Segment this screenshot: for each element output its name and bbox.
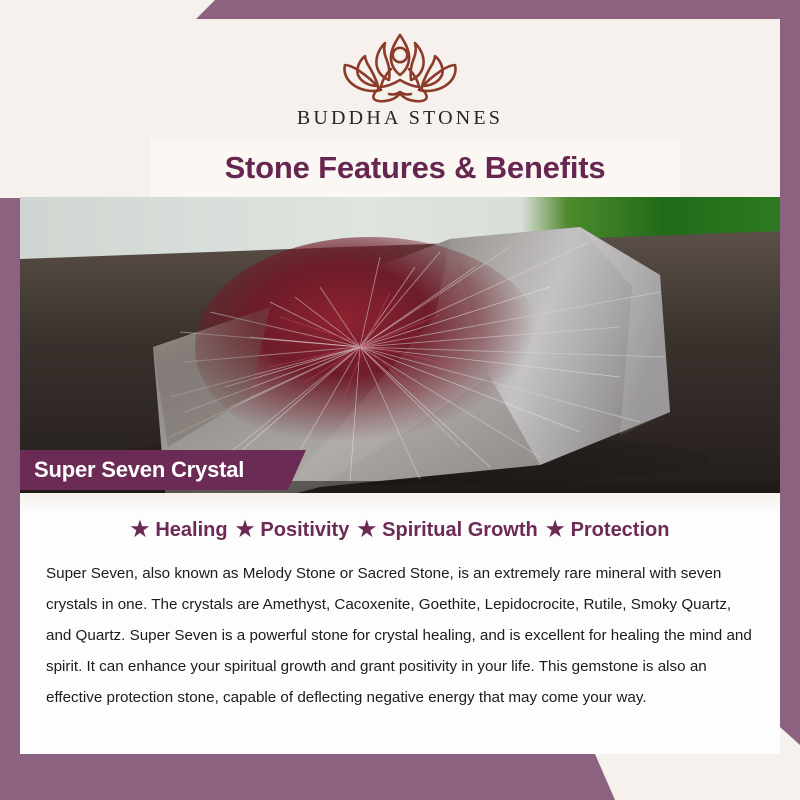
stone-photo (20, 197, 780, 493)
content-panel: ★ Healing ★ Positivity ★ Spiritual Growt… (20, 493, 780, 754)
benefit-healing: ★ Healing (131, 519, 228, 542)
benefits-row: ★ Healing ★ Positivity ★ Spiritual Growt… (38, 493, 762, 542)
star-icon: ★ (131, 519, 150, 540)
frame-top-band (0, 0, 800, 19)
lotus-meditation-icon (325, 29, 475, 103)
frame-left-band (0, 198, 20, 800)
page-title: Stone Features & Benefits (225, 150, 606, 186)
benefit-label: Positivity (260, 519, 349, 542)
stone-name-banner: Super Seven Crystal (20, 450, 306, 490)
brand-name: BUDDHA STONES (297, 107, 503, 130)
benefit-positivity: ★ Positivity (236, 519, 350, 542)
benefit-label: Healing (155, 519, 227, 542)
stone-photo-illustration (20, 197, 780, 493)
benefit-label: Protection (571, 519, 670, 542)
stone-name: Super Seven Crystal (34, 457, 244, 483)
benefit-label: Spiritual Growth (382, 519, 538, 542)
frame-right-band (780, 0, 800, 800)
frame-bottom-band (0, 754, 800, 800)
page-title-band: Stone Features & Benefits (150, 139, 680, 197)
infographic-page: BUDDHA STONES Stone Features & Benefits (0, 0, 800, 800)
benefit-spiritual-growth: ★ Spiritual Growth (357, 519, 537, 542)
brand-logo: BUDDHA STONES (20, 29, 780, 130)
star-icon: ★ (357, 519, 376, 540)
stone-description: Super Seven, also known as Melody Stone … (38, 558, 762, 713)
benefit-protection: ★ Protection (546, 519, 670, 542)
star-icon: ★ (546, 519, 565, 540)
brand-header: BUDDHA STONES (20, 19, 780, 139)
star-icon: ★ (236, 519, 255, 540)
